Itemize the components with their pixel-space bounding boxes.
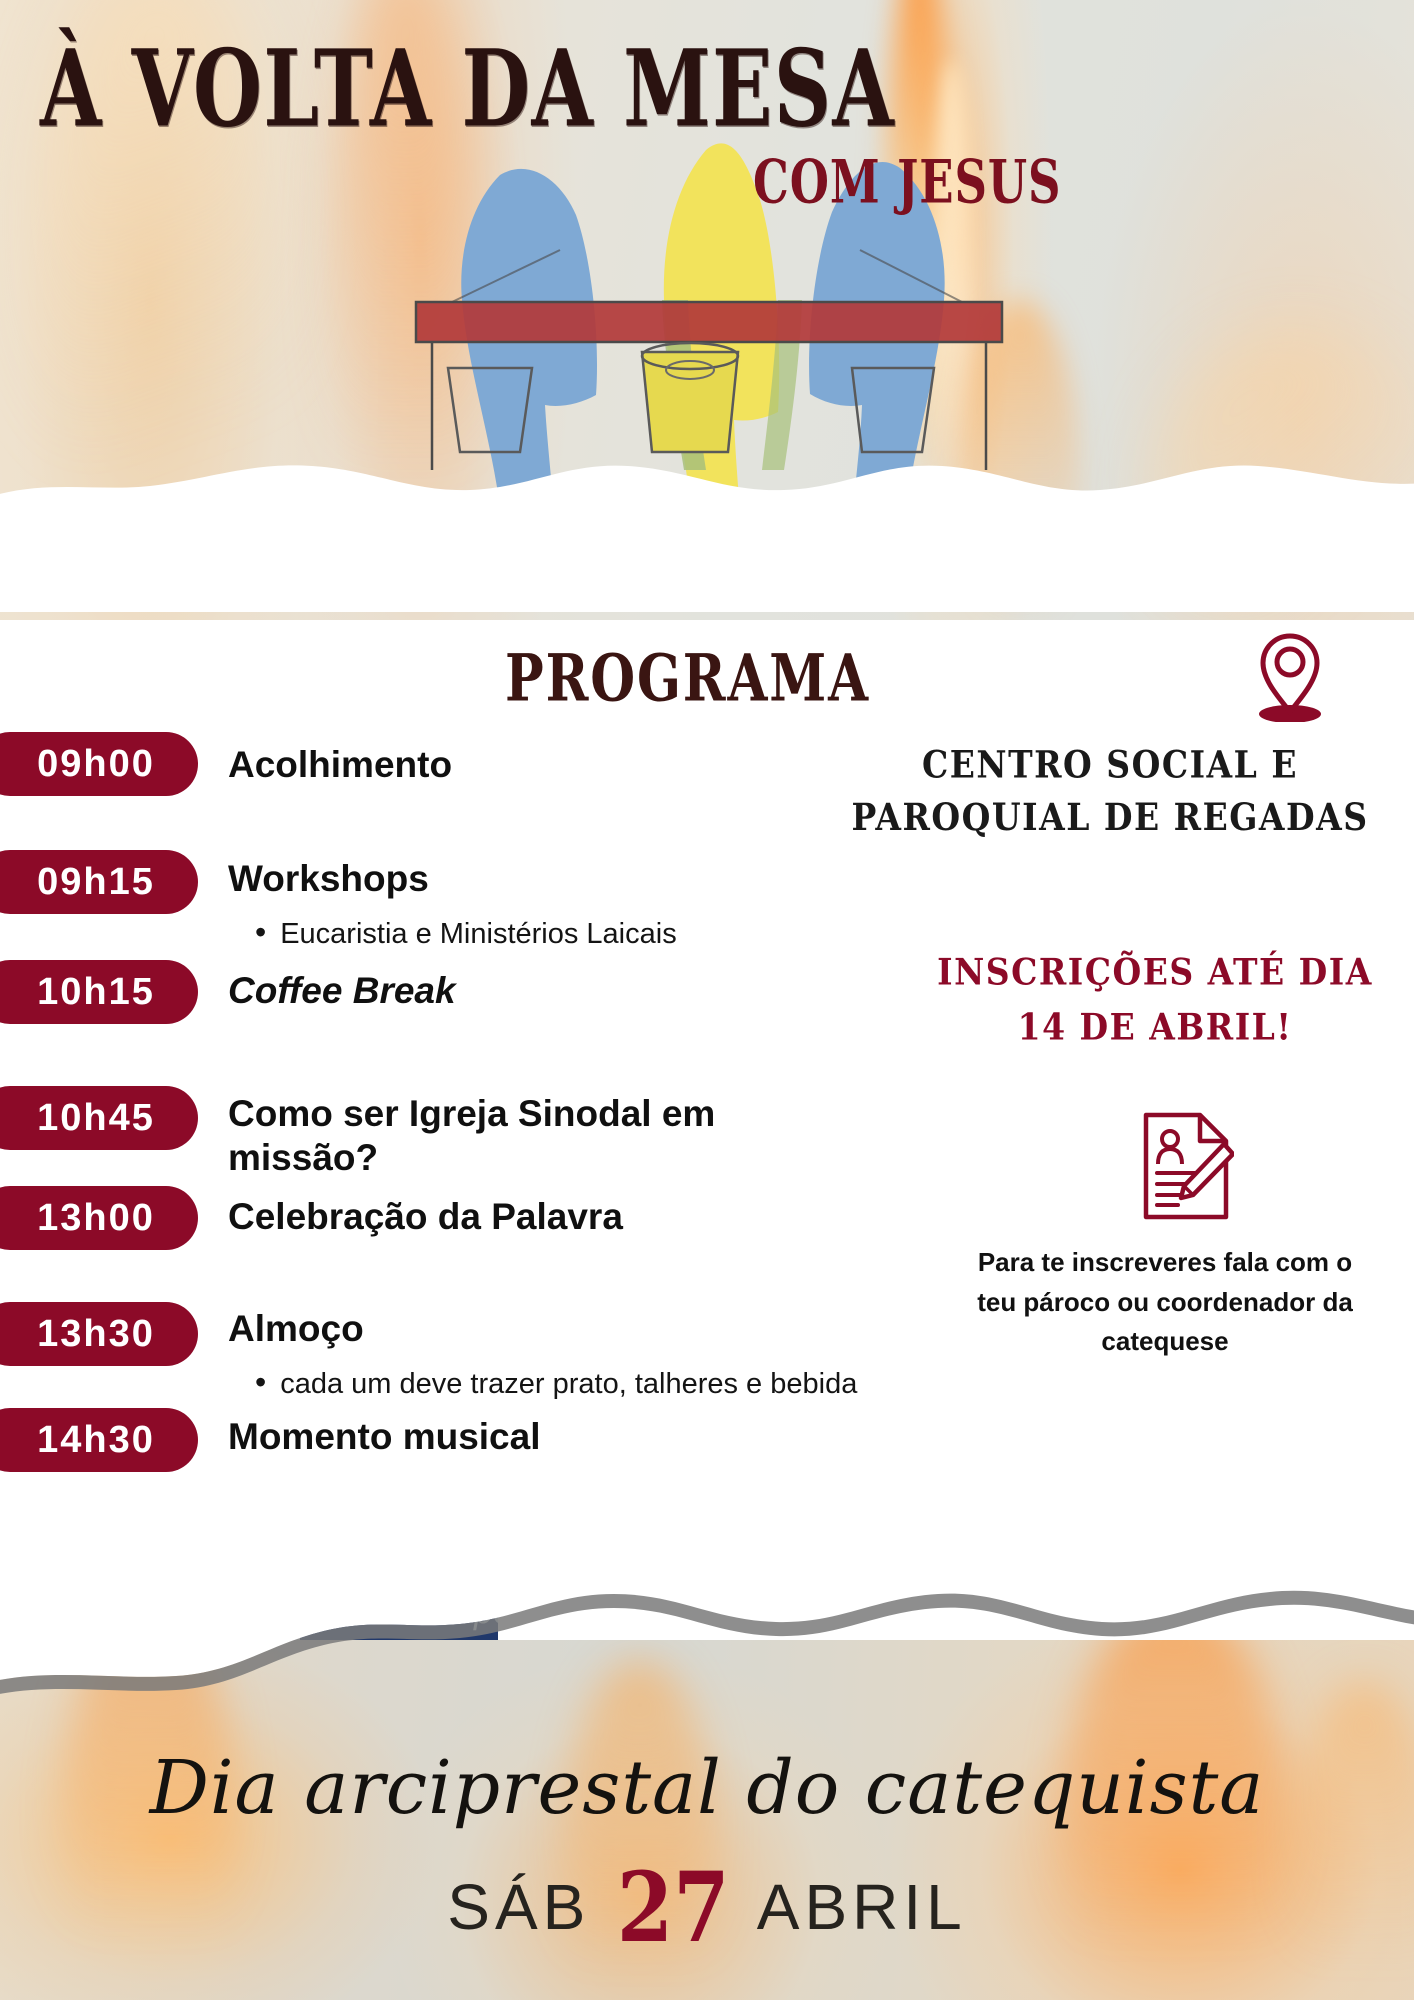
time-badge: 09h15 xyxy=(0,850,198,914)
venue-line-1: CENTRO SOCIAL E xyxy=(840,739,1380,791)
schedule-entry-label: Coffee Break xyxy=(228,970,456,1011)
time-badge: 09h00 xyxy=(0,732,198,796)
table-top xyxy=(416,302,1002,342)
footer-date: SÁB 27 ABRIL xyxy=(0,1855,1414,1959)
footer-day-prefix: SÁB xyxy=(447,1870,590,1944)
venue-line-2: PAROQUIAL DE REGADAS xyxy=(840,792,1380,844)
schedule-entry-label: Celebração da Palavra xyxy=(228,1196,623,1237)
page-subtitle: COM JESUS xyxy=(753,152,1061,212)
schedule-entry-label: Acolhimento xyxy=(228,744,452,785)
footer-month: ABRIL xyxy=(757,1870,967,1944)
form-person-head xyxy=(1162,1131,1178,1147)
location-pin-icon xyxy=(1255,630,1325,722)
pin-hole xyxy=(1277,649,1303,675)
time-badge: 10h45 xyxy=(0,1086,198,1150)
schedule-entry-label: Momento musical xyxy=(228,1416,541,1457)
time-badge: 13h30 xyxy=(0,1302,198,1366)
torn-paper-edge-bottom xyxy=(0,1560,1414,1740)
schedule-entry-label: Almoço xyxy=(228,1308,364,1349)
schedule-entry-bullet: cada um deve trazer prato, talheres e be… xyxy=(255,1364,857,1401)
schedule-entry-bullet: Eucaristia e Ministérios Laicais xyxy=(255,914,677,951)
venue-block: CENTRO SOCIAL E PAROQUIAL DE REGADAS xyxy=(840,739,1380,844)
program-heading: PROGRAMA xyxy=(505,640,870,717)
glass-center xyxy=(642,352,738,452)
deadline-line-2: 14 DE ABRIL! xyxy=(930,1000,1380,1055)
poster-root: À VOLTA DA MESA COM JESUS PROGRAMA 09h00… xyxy=(0,0,1414,2000)
footer-event-name: Dia arciprestal do catequista xyxy=(0,1745,1414,1831)
time-badge: 14h30 xyxy=(0,1408,198,1472)
schedule-entry-label: Como ser Igreja Sinodal em missão? xyxy=(228,1092,848,1181)
torn-paper-edge-top xyxy=(0,465,1414,612)
page-title: À VOLTA DA MESA xyxy=(40,36,895,142)
registration-deadline: INSCRIÇÕES ATÉ DIA 14 DE ABRIL! xyxy=(930,945,1380,1055)
registration-note: Para te inscreveres fala com o teu pároc… xyxy=(955,1243,1375,1362)
hero-background: À VOLTA DA MESA COM JESUS xyxy=(0,0,1414,620)
registration-form-icon xyxy=(1138,1110,1234,1222)
deadline-line-1: INSCRIÇÕES ATÉ DIA xyxy=(930,945,1380,1000)
time-badge: 10h15 xyxy=(0,960,198,1024)
time-badge: 13h00 xyxy=(0,1186,198,1250)
footer-day-number: 27 xyxy=(617,1850,730,1964)
schedule-entry-label: Workshops xyxy=(228,858,429,899)
form-person-body xyxy=(1158,1149,1182,1164)
